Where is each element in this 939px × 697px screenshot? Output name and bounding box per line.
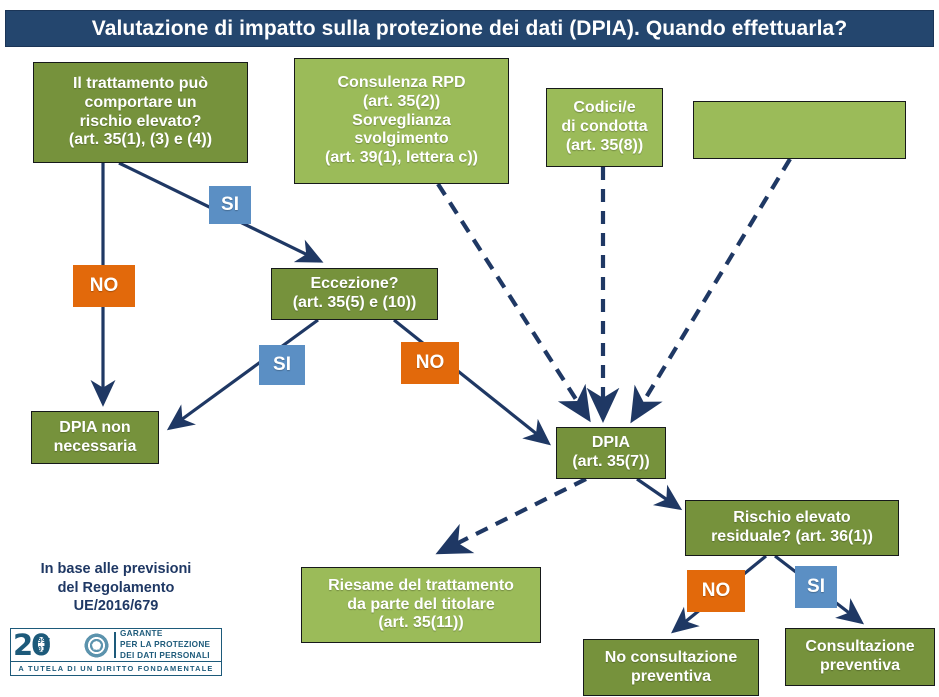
footer-note: In base alle previsionidel RegolamentoUE… (18, 560, 214, 616)
node-label-line: residuale? (art. 36(1)) (711, 528, 873, 547)
footer-note-line: In base alle previsioni (18, 560, 214, 579)
republic-emblem-icon (83, 632, 110, 659)
node-label: Rischio elevatoresiduale? (art. 36(1)) (711, 509, 873, 547)
node-label-line: Consulenza RPD (325, 74, 478, 93)
edge-opinioni-dpia (633, 159, 790, 419)
node-label: No consultazionepreventiva (605, 649, 737, 687)
node-label-line: preventiva (605, 668, 737, 687)
chip-no-eccezione: NO (401, 342, 459, 384)
footer-note-line: del Regolamento (18, 579, 214, 598)
logo-name: GARANTE PER LA PROTEZIONE DEI DATI PERSO… (120, 629, 210, 661)
page-title: Valutazione di impatto sulla protezione … (92, 17, 848, 41)
node-label-line: (art. 35(1), (3) e (4)) (69, 131, 212, 150)
node-label-line: Riesame del trattamento (328, 577, 514, 596)
node-label-line: Sorveglianza (325, 112, 478, 131)
node-label: DPIA(art. 35(7)) (572, 434, 649, 472)
node-opinioni-interessati[interactable] (693, 101, 906, 159)
logo-tagline: A TUTELA DI UN DIRITTO FONDAMENTALE (11, 661, 221, 675)
node-label-line: Consultazione (805, 638, 914, 657)
node-label-line: necessaria (54, 438, 137, 457)
edge-dpia-rischio (637, 479, 679, 508)
node-riesame[interactable]: Riesame del trattamentoda parte del tito… (301, 567, 541, 643)
node-trattamento[interactable]: Il trattamento puòcomportare unrischio e… (33, 62, 248, 163)
node-label-line: comportare un (69, 94, 212, 113)
logo-divider (114, 632, 116, 658)
node-label-line: da parte del titolare (328, 596, 514, 615)
node-consultazione[interactable]: Consultazionepreventiva (785, 628, 935, 686)
chip-si-eccezione: SI (259, 345, 305, 385)
node-codici-condotta[interactable]: Codici/edi condotta(art. 35(8)) (546, 88, 663, 167)
node-label-line: No consultazione (605, 649, 737, 668)
node-label-line: di condotta (561, 118, 647, 137)
node-label-line: (art. 35(2)) (325, 93, 478, 112)
node-consulenza-rpd[interactable]: Consulenza RPD(art. 35(2))Sorveglianzasv… (294, 58, 509, 184)
page-title-bar: Valutazione di impatto sulla protezione … (5, 10, 934, 47)
node-dpia[interactable]: DPIA(art. 35(7)) (556, 427, 666, 479)
chip-si-residuale: SI (795, 566, 837, 608)
node-label-line: (art. 35(7)) (572, 453, 649, 472)
node-label-line: Codici/e (561, 99, 647, 118)
node-label-line: (art. 39(1), lettera c)) (325, 149, 478, 168)
node-label: Il trattamento puòcomportare unrischio e… (69, 75, 212, 151)
node-label-line: svolgimento (325, 130, 478, 149)
node-label-line: DPIA non (54, 419, 137, 438)
chip-no-residuale: NO (687, 570, 745, 612)
node-label: Codici/edi condotta(art. 35(8)) (561, 99, 647, 156)
node-label-line: preventiva (805, 657, 914, 676)
node-label-line: Rischio elevato (711, 509, 873, 528)
chip-no-trattamento: NO (73, 265, 135, 307)
node-no-consultazione[interactable]: No consultazionepreventiva (583, 639, 759, 696)
node-label-line: (art. 35(5) e (10)) (293, 294, 417, 313)
logo-years: 1997 2017 (33, 638, 50, 654)
node-label-line: (art. 35(11)) (328, 614, 514, 633)
logo-main-row: 20 1997 2017 GARANTE PER LA PROTEZIONE D… (11, 629, 221, 661)
node-rischio-residuale[interactable]: Rischio elevatoresiduale? (art. 36(1)) (685, 500, 899, 556)
node-label-line: rischio elevato? (69, 113, 212, 132)
node-label: DPIA nonnecessaria (54, 419, 137, 457)
node-label: Eccezione?(art. 35(5) e (10)) (293, 275, 417, 313)
node-label-line: Eccezione? (293, 275, 417, 294)
chip-si-trattamento: SI (209, 186, 251, 224)
diagram-canvas: Valutazione di impatto sulla protezione … (0, 0, 939, 697)
logo-year-to: 2017 (33, 646, 50, 654)
node-label: Consultazionepreventiva (805, 638, 914, 676)
logo-name-line3: DEI DATI PERSONALI (120, 651, 210, 662)
logo-name-line1: GARANTE (120, 629, 210, 640)
node-label-line: (art. 35(8)) (561, 137, 647, 156)
node-dpia-non-necessaria[interactable]: DPIA nonnecessaria (31, 411, 159, 464)
node-label-line: DPIA (572, 434, 649, 453)
node-eccezione[interactable]: Eccezione?(art. 35(5) e (10)) (271, 268, 438, 320)
edge-consulenza-dpia (438, 184, 588, 418)
node-label-line: Il trattamento può (69, 75, 212, 94)
node-label: Consulenza RPD(art. 35(2))Sorveglianzasv… (325, 74, 478, 168)
edge-dpia-riesame (440, 479, 586, 552)
logo-20-mark: 20 1997 2017 (13, 630, 79, 661)
logo-name-line2: PER LA PROTEZIONE (120, 640, 210, 651)
garante-logo: 20 1997 2017 GARANTE PER LA PROTEZIONE D… (10, 628, 222, 676)
footer-note-line: UE/2016/679 (18, 597, 214, 616)
node-label: Riesame del trattamentoda parte del tito… (328, 577, 514, 634)
